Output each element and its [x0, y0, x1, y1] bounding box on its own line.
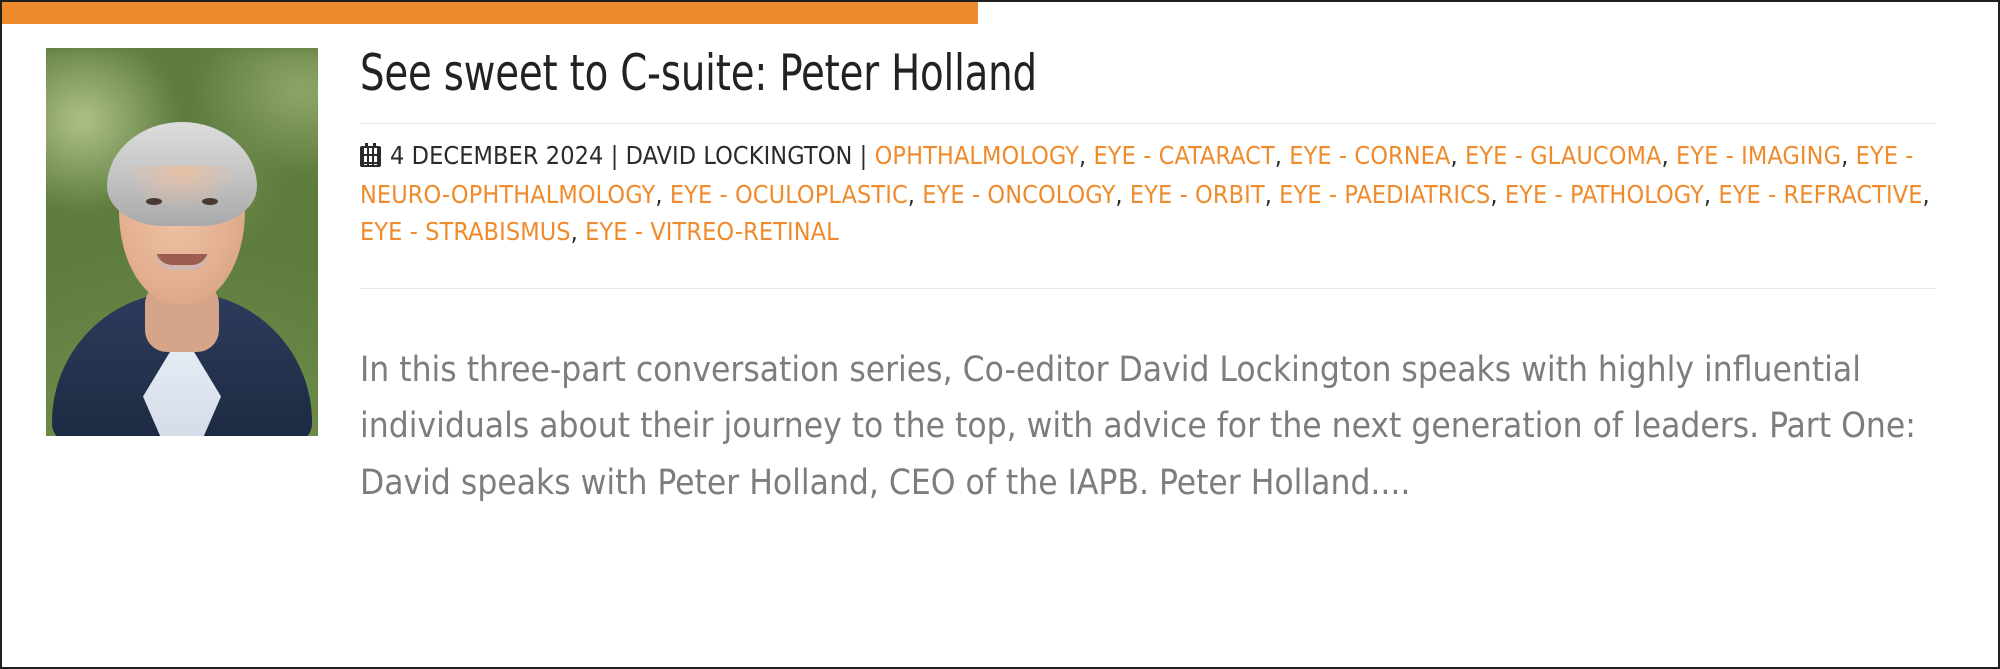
category-separator: ,	[908, 180, 922, 209]
category-link[interactable]: OPHTHALMOLOGY	[875, 141, 1079, 170]
divider-bottom	[360, 288, 1936, 289]
category-separator: ,	[1704, 180, 1718, 209]
portrait-eye-right	[202, 198, 218, 205]
category-link[interactable]: EYE - OCULOPLASTIC	[670, 180, 908, 209]
article-meta: 4 DECEMBER 2024 | DAVID LOCKINGTON | OPH…	[360, 124, 1936, 266]
category-separator: ,	[1841, 141, 1855, 170]
category-link[interactable]: EYE - STRABISMUS	[360, 217, 571, 246]
category-link[interactable]: EYE - CORNEA	[1289, 141, 1450, 170]
portrait-mouth	[156, 254, 208, 270]
accent-bar	[2, 2, 978, 24]
category-separator: ,	[1115, 180, 1129, 209]
category-link[interactable]: EYE - ORBIT	[1130, 180, 1265, 209]
portrait-hair	[107, 122, 257, 226]
content-column: See sweet to C-suite: Peter Holland 4 DE…	[318, 24, 1998, 547]
category-separator: ,	[1923, 180, 1930, 209]
category-separator: ,	[1079, 141, 1093, 170]
article-title[interactable]: See sweet to C-suite: Peter Holland	[360, 46, 1715, 101]
category-link[interactable]: EYE - PAEDIATRICS	[1279, 180, 1490, 209]
thumbnail-column	[2, 24, 318, 436]
category-separator: ,	[1490, 180, 1504, 209]
calendar-icon	[360, 141, 381, 177]
category-link[interactable]: EYE - VITREO-RETINAL	[585, 217, 839, 246]
category-separator: ,	[571, 217, 585, 246]
article-card: See sweet to C-suite: Peter Holland 4 DE…	[0, 0, 2000, 669]
category-separator: ,	[1275, 141, 1289, 170]
category-separator: ,	[1450, 141, 1464, 170]
article-thumbnail[interactable]	[46, 48, 318, 436]
article-excerpt: In this three-part conversation series, …	[360, 324, 1936, 512]
category-link[interactable]: EYE - GLAUCOMA	[1465, 141, 1662, 170]
article-date: 4 DECEMBER 2024	[390, 141, 603, 170]
article-author[interactable]: DAVID LOCKINGTON	[626, 141, 853, 170]
category-link[interactable]: EYE - ONCOLOGY	[922, 180, 1115, 209]
category-link[interactable]: EYE - REFRACTIVE	[1718, 180, 1922, 209]
category-link[interactable]: EYE - PATHOLOGY	[1505, 180, 1704, 209]
category-link[interactable]: EYE - CATARACT	[1094, 141, 1275, 170]
category-separator: ,	[1265, 180, 1279, 209]
portrait-photo	[46, 48, 318, 436]
card-body: See sweet to C-suite: Peter Holland 4 DE…	[2, 24, 1998, 667]
category-link[interactable]: EYE - IMAGING	[1676, 141, 1841, 170]
category-separator: ,	[1661, 141, 1675, 170]
category-separator: ,	[655, 180, 669, 209]
portrait-eye-left	[146, 198, 162, 205]
